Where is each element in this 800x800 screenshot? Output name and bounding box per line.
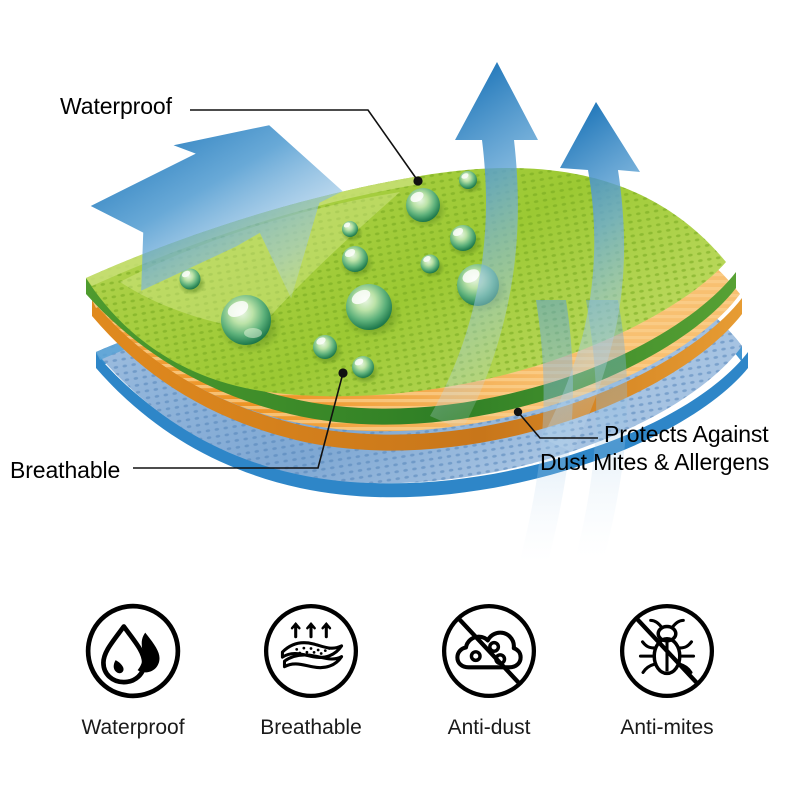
callout-label-waterproof: Waterproof: [60, 92, 172, 120]
callout-label-protects: Protects Against Dust Mites & Allergens: [604, 420, 769, 476]
leader-dot-waterproof: [413, 176, 422, 185]
feature-item-waterproof[interactable]: Waterproof: [73, 600, 193, 740]
leader-dot-protects: [514, 408, 522, 416]
callout-label-breathable: Breathable: [10, 456, 120, 484]
callout-protects-line2: Dust Mites & Allergens: [540, 448, 769, 476]
leader-dot-breathable: [338, 368, 347, 377]
feature-caption-breathable: Breathable: [260, 716, 362, 740]
feature-caption-anti-mites: Anti-mites: [620, 716, 713, 740]
water-drop-icon: [82, 600, 184, 702]
fabric-layers-infographic: Waterproof Breathable Protects Against D…: [0, 0, 800, 800]
no-bug-icon: [616, 600, 718, 702]
feature-item-breathable[interactable]: Breathable: [251, 600, 371, 740]
feature-icon-row: Waterproof: [0, 600, 800, 760]
callout-protects-line1: Protects Against: [604, 420, 769, 448]
feature-caption-anti-dust: Anti-dust: [448, 716, 531, 740]
feature-caption-waterproof: Waterproof: [81, 716, 184, 740]
no-dust-icon: [438, 600, 540, 702]
feature-item-anti-dust[interactable]: Anti-dust: [429, 600, 549, 740]
breathable-fabric-icon: [260, 600, 362, 702]
feature-item-anti-mites[interactable]: Anti-mites: [607, 600, 727, 740]
